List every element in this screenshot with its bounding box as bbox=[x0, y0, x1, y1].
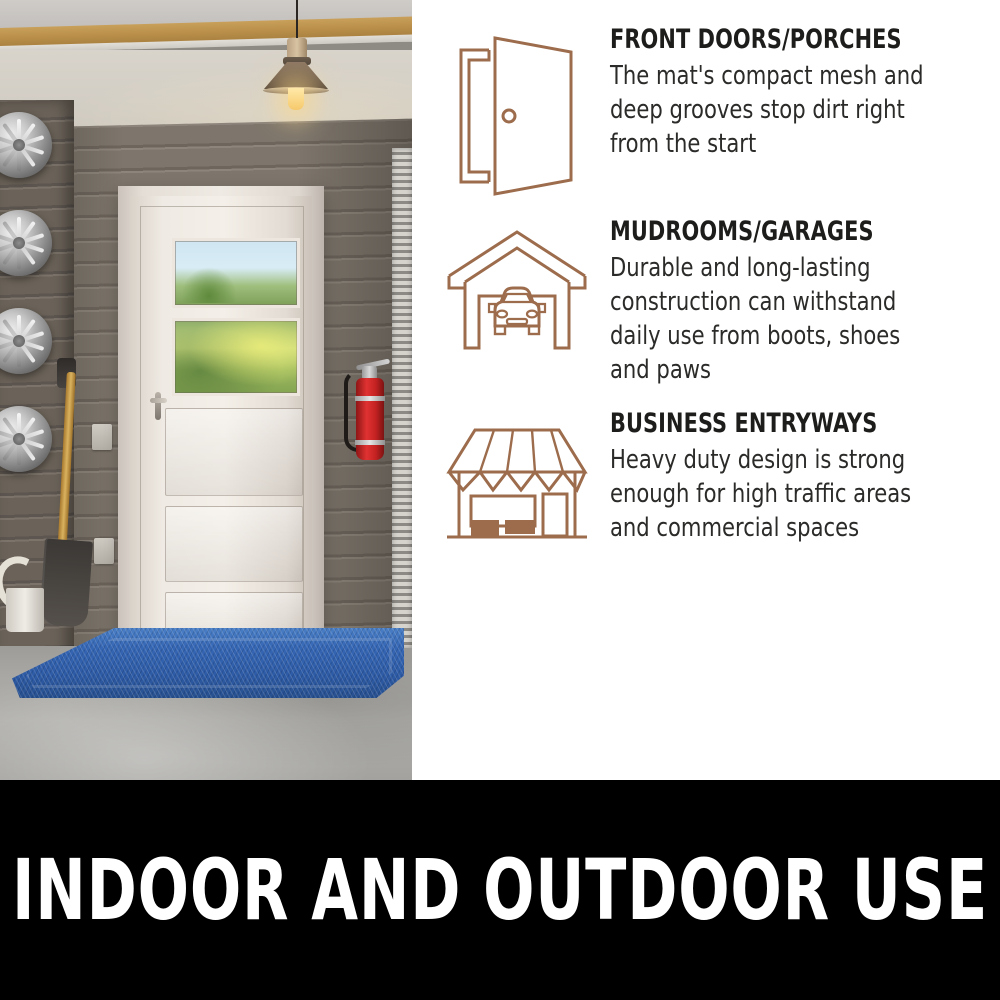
shovel-blade bbox=[39, 538, 93, 627]
feature-text: BUSINESS ENTRYWAYS Heavy duty design is … bbox=[606, 410, 960, 546]
garage-with-car-icon bbox=[428, 218, 606, 356]
wall-rack bbox=[392, 148, 412, 648]
wheel-spokes bbox=[0, 112, 52, 178]
bucket bbox=[6, 588, 44, 632]
feature-text: FRONT DOORS/PORCHES The mat's compact me… bbox=[606, 26, 960, 162]
pendant-light-bulb bbox=[288, 88, 304, 110]
wheel-rim bbox=[0, 210, 52, 276]
wall-outlet bbox=[94, 538, 114, 564]
bottom-banner: INDOOR AND OUTDOOR USE bbox=[0, 780, 1000, 1000]
wheel-rim bbox=[0, 308, 52, 374]
wheel-rim bbox=[0, 406, 52, 472]
product-lifestyle-photo bbox=[0, 0, 412, 780]
feature-item: FRONT DOORS/PORCHES The mat's compact me… bbox=[428, 26, 960, 198]
door-panel bbox=[165, 506, 303, 582]
storefront-icon bbox=[428, 410, 606, 548]
features-panel: FRONT DOORS/PORCHES The mat's compact me… bbox=[412, 0, 1000, 780]
banner-headline: INDOOR AND OUTDOOR USE bbox=[12, 848, 988, 932]
feature-description: Heavy duty design is strong enough for h… bbox=[610, 444, 932, 546]
fire-extinguisher bbox=[356, 378, 384, 460]
feature-title: BUSINESS ENTRYWAYS bbox=[610, 410, 911, 438]
extinguisher-band bbox=[355, 440, 385, 445]
feature-description: The mat's compact mesh and deep grooves … bbox=[610, 60, 932, 162]
feature-title: MUDROOMS/GARAGES bbox=[610, 218, 911, 246]
feature-item: MUDROOMS/GARAGES Durable and long-lastin… bbox=[428, 218, 960, 388]
door-window-lower bbox=[172, 318, 300, 396]
infographic-page: FRONT DOORS/PORCHES The mat's compact me… bbox=[0, 0, 1000, 1000]
feature-title: FRONT DOORS/PORCHES bbox=[610, 26, 911, 54]
feature-item: BUSINESS ENTRYWAYS Heavy duty design is … bbox=[428, 410, 960, 548]
wheel-spokes bbox=[0, 210, 52, 276]
pendant-light-cord bbox=[296, 0, 298, 40]
door-window-upper bbox=[172, 238, 300, 308]
wheel-spokes bbox=[0, 308, 52, 374]
wheel-spokes bbox=[0, 406, 52, 472]
feature-description: Durable and long-lasting construction ca… bbox=[610, 252, 932, 388]
extinguisher-band bbox=[355, 396, 385, 401]
wheel-rim bbox=[0, 112, 52, 178]
door-handle bbox=[155, 392, 161, 420]
door-panel bbox=[165, 408, 303, 496]
door-lever bbox=[150, 398, 167, 403]
wall-outlet bbox=[92, 424, 112, 450]
feature-text: MUDROOMS/GARAGES Durable and long-lastin… bbox=[606, 218, 960, 388]
open-door-icon bbox=[428, 26, 606, 198]
